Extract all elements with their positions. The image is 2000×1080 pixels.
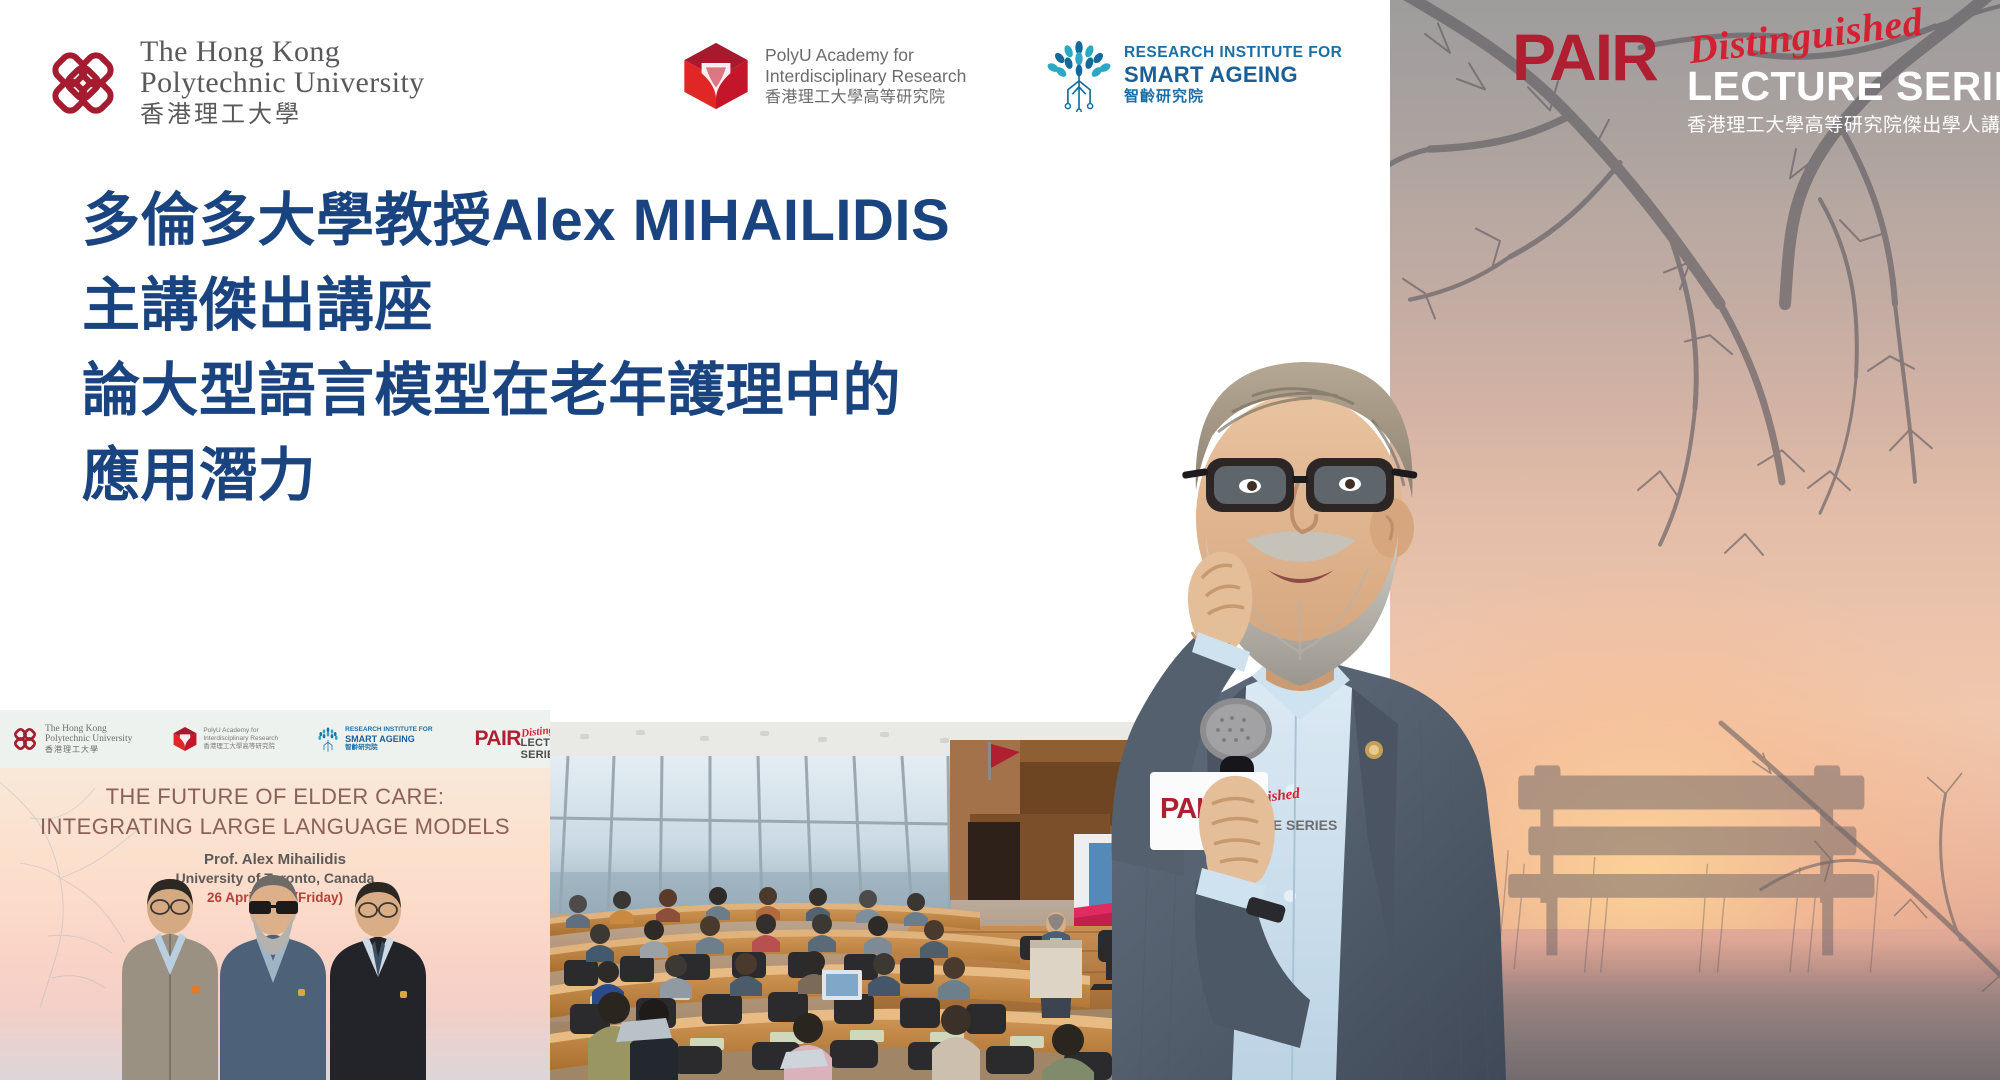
polyu-name-line1: The Hong Kong xyxy=(140,36,425,67)
backdrop-polyu-line1: The Hong Kong xyxy=(45,724,132,735)
backdrop-risa-line2: SMART AGEING xyxy=(345,734,432,744)
headline-line-1: 多倫多大學教授Alex MIHAILIDIS xyxy=(82,178,1262,263)
polyu-academy-logo: PolyU Academy for Interdisciplinary Rese… xyxy=(680,40,966,112)
speaker-with-microphone-photo: PAIR Distinguished LECTURE SERIES xyxy=(1000,300,1560,1080)
backdrop-pair-wordmark: PAIR xyxy=(475,727,521,751)
backdrop-risa-line1: RESEARCH INSTITUTE FOR xyxy=(345,726,432,734)
academy-name-zh: 香港理工大學高等研究院 xyxy=(765,87,966,108)
backdrop-polyu-logo: The Hong Kong Polytechnic University 香港理… xyxy=(10,724,132,755)
polyu-knot-icon xyxy=(40,40,126,126)
pair-wordmark: PAIR xyxy=(1512,26,1657,88)
backdrop-academy-cube-icon xyxy=(172,726,198,752)
academy-name-line2: Interdisciplinary Research xyxy=(765,66,966,87)
academy-cube-icon xyxy=(680,40,752,112)
polyu-name-zh: 香港理工大學 xyxy=(140,100,425,130)
backdrop-logo-bar: The Hong Kong Polytechnic University 香港理… xyxy=(0,710,550,768)
backdrop-academy-line2: Interdisciplinary Research xyxy=(203,735,278,743)
backdrop-academy-logo: PolyU Academy for Interdisciplinary Rese… xyxy=(172,726,278,752)
smart-ageing-zh: 智齡研究院 xyxy=(1124,87,1342,106)
academy-name-line1: PolyU Academy for xyxy=(765,45,966,66)
hk-polyu-logo: The Hong Kong Polytechnic University 香港理… xyxy=(40,36,425,130)
backdrop-smart-ageing-logo: RESEARCH INSTITUTE FOR SMART AGEING 智齡研究… xyxy=(316,726,432,753)
backdrop-pair-lockup: PAIR Distinguished LECTURE SERIES xyxy=(475,727,521,751)
polyu-name-line2: Polytechnic University xyxy=(140,67,425,98)
pair-lecture-series-lockup: PAIR Distinguished LECTURE SERIES 香港理工大學… xyxy=(1512,28,1992,90)
backdrop-academy-zh: 香港理工大學高等研究院 xyxy=(203,743,278,751)
backdrop-title-line1: THE FUTURE OF ELDER CARE: xyxy=(0,782,550,812)
backdrop-lecture-series: LECTURE SERIES xyxy=(521,737,550,761)
group-photo-at-event-backdrop: The Hong Kong Polytechnic University 香港理… xyxy=(0,710,550,1080)
backdrop-event-title: THE FUTURE OF ELDER CARE: INTEGRATING LA… xyxy=(0,782,550,842)
smart-ageing-line2: SMART AGEING xyxy=(1124,62,1342,87)
pair-lockup-zh: 香港理工大學高等研究院傑出學人講座系列 xyxy=(1687,110,2000,137)
backdrop-risa-zh: 智齡研究院 xyxy=(345,744,432,752)
three-people-group-photo xyxy=(108,865,438,1080)
backdrop-academy-line1: PolyU Academy for xyxy=(203,727,278,735)
backdrop-polyu-line2: Polytechnic University xyxy=(45,734,132,745)
backdrop-polyu-zh: 香港理工大學 xyxy=(45,745,132,755)
backdrop-title-line2: INTEGRATING LARGE LANGUAGE MODELS xyxy=(0,812,550,842)
banner-canvas: The Hong Kong Polytechnic University 香港理… xyxy=(0,0,2000,1080)
lecture-series-text: LECTURE SERIES xyxy=(1687,64,2000,108)
smart-ageing-tree-icon xyxy=(1045,38,1113,112)
backdrop-tree-icon xyxy=(316,726,340,753)
smart-ageing-line1: RESEARCH INSTITUTE FOR xyxy=(1124,44,1342,62)
logo-header: The Hong Kong Polytechnic University 香港理… xyxy=(0,0,1390,160)
smart-ageing-logo: RESEARCH INSTITUTE FOR SMART AGEING 智齡研究… xyxy=(1045,38,1342,112)
backdrop-polyu-knot-icon xyxy=(10,724,40,754)
